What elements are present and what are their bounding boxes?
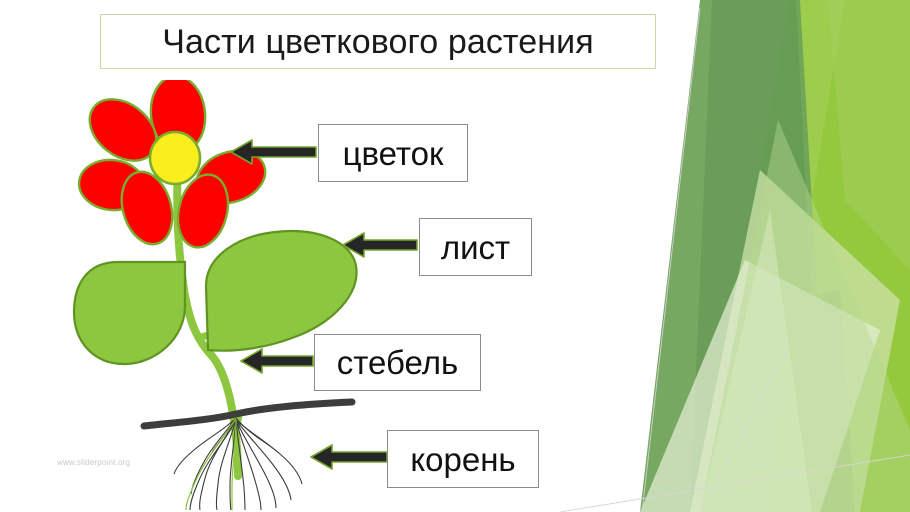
slide-canvas: Части цветкового растения — [0, 0, 910, 512]
label-flower-text: цветок — [343, 137, 444, 170]
flower-center — [150, 132, 200, 184]
label-box-leaf: лист — [419, 218, 532, 276]
plant-leaf-right — [206, 231, 357, 351]
label-box-flower: цветок — [318, 124, 468, 182]
page-title: Части цветкового растения — [162, 25, 593, 59]
label-leaf-text: лист — [441, 231, 510, 264]
plant-leaf-left — [74, 262, 185, 364]
label-stem-text: стебель — [337, 346, 458, 379]
label-box-root: корень — [387, 430, 539, 488]
ground-line — [144, 402, 352, 426]
label-box-stem: стебель — [314, 334, 481, 391]
label-root-text: корень — [410, 443, 515, 476]
watermark: www.sliderpoint.org — [57, 458, 130, 467]
slide-title-box: Части цветкового растения — [100, 14, 656, 69]
